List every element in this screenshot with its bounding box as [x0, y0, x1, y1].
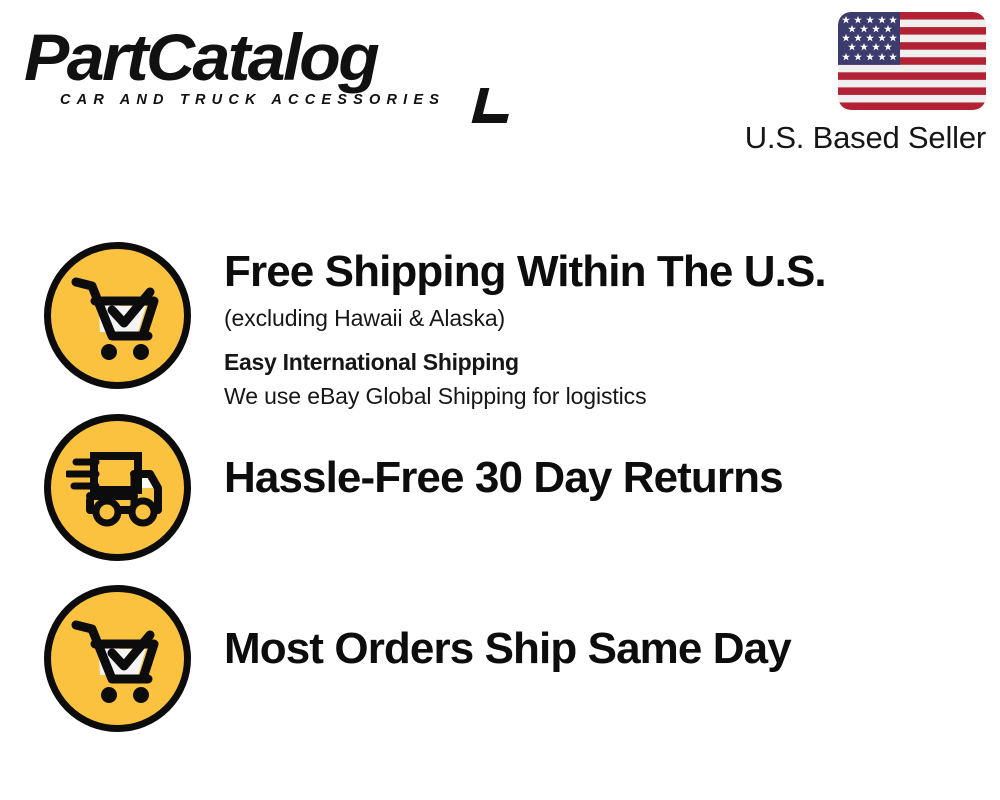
- feature-subline: We use eBay Global Shipping for logistic…: [224, 380, 1000, 412]
- brand-tagline: CAR AND TRUCK ACCESSORIES: [60, 92, 445, 108]
- feature-row: Most Orders Ship Same Day: [0, 585, 1000, 732]
- us-flag-icon: [838, 12, 986, 110]
- feature-title: Hassle-Free 30 Day Returns: [224, 452, 1000, 504]
- seller-badge: U.S. Based Seller: [716, 12, 986, 158]
- brand-logo[interactable]: PartCatalog CAR AND TRUCK ACCESSORIES: [24, 22, 494, 117]
- feature-title: Most Orders Ship Same Day: [224, 623, 1000, 675]
- feature-text: Most Orders Ship Same Day: [224, 585, 1000, 675]
- feature-subline: (excluding Hawaii & Alaska): [224, 302, 1000, 334]
- seller-label: U.S. Based Seller: [716, 118, 986, 158]
- feature-title: Free Shipping Within The U.S.: [224, 246, 1000, 298]
- feature-badge: [44, 242, 191, 389]
- brand-swoosh-icon: [472, 88, 516, 123]
- feature-row: Hassle-Free 30 Day Returns: [0, 414, 1000, 561]
- shopping-cart-check-icon: [68, 270, 168, 362]
- feature-text: Hassle-Free 30 Day Returns: [224, 414, 1000, 504]
- feature-text: Free Shipping Within The U.S. (excluding…: [224, 242, 1000, 412]
- brand-wordmark: PartCatalog: [24, 22, 508, 92]
- delivery-truck-icon: [66, 448, 170, 528]
- shopping-cart-check-icon: [68, 613, 168, 705]
- feature-subline: Easy International Shipping: [224, 346, 1000, 378]
- feature-badge: [44, 585, 191, 732]
- feature-row: Free Shipping Within The U.S. (excluding…: [0, 242, 1000, 412]
- page-header: PartCatalog CAR AND TRUCK ACCESSORIES: [0, 0, 1000, 170]
- feature-badge: [44, 414, 191, 561]
